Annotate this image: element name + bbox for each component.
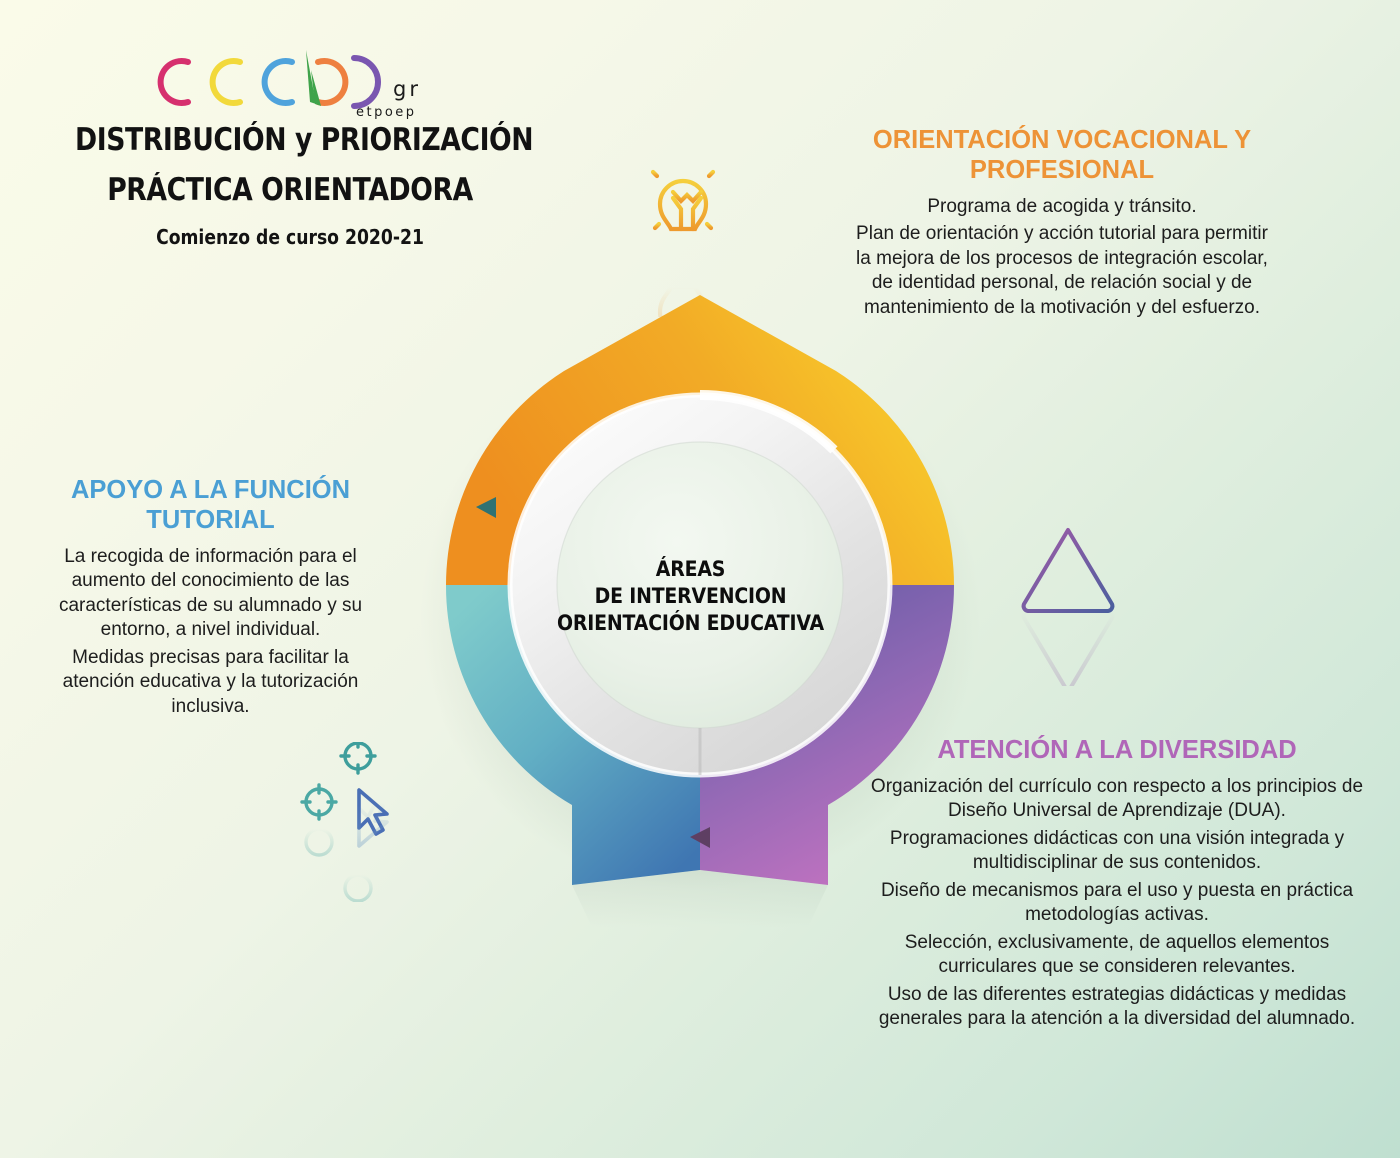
donut-inner-ring — [510, 395, 890, 775]
page-title: DISTRIBUCIÓN y PRIORIZACIÓN PRÁCTICA ORI… — [40, 124, 540, 249]
crosshair-bottom — [302, 785, 336, 819]
panel-paragraph: Medidas precisas para facilitar la atenc… — [38, 646, 383, 720]
panel-title-vocacional: ORIENTACIÓN VOCACIONAL Y PROFESIONAL — [852, 126, 1272, 186]
warning-triangle-icon — [1012, 516, 1124, 686]
panel-paragraph: La recogida de información para el aumen… — [38, 545, 383, 643]
logo-arc-5 — [354, 58, 378, 106]
logo-text-etpoep: etpoep — [356, 105, 417, 120]
logo-arc-2 — [213, 61, 240, 103]
logo-arc-4 — [318, 61, 345, 103]
title-line-1: DISTRIBUCIÓN y PRIORIZACIÓN — [75, 124, 505, 157]
logo-arc-3 — [265, 61, 292, 103]
etpoep-gr-logo: gr etpoep — [140, 44, 440, 122]
panel-paragraph: Programaciones didácticas con una visión… — [862, 827, 1372, 876]
title-subtitle: Comienzo de curso 2020-21 — [75, 225, 505, 249]
panel-paragraph: Diseño de mecanismos para el uso y puest… — [862, 879, 1372, 928]
crosshair-top — [341, 742, 375, 773]
panel-paragraph: Programa de acogida y tránsito. — [852, 195, 1272, 220]
panel-atencion-diversidad: ATENCIÓN A LA DIVERSIDAD Organización de… — [862, 736, 1372, 1035]
panel-paragraph: Organización del currículo con respecto … — [862, 775, 1372, 824]
panel-orientacion-vocacional: ORIENTACIÓN VOCACIONAL Y PROFESIONAL Pro… — [852, 126, 1272, 323]
panel-paragraph: Selección, exclusivamente, de aquellos e… — [862, 931, 1372, 980]
title-line-2: PRÁCTICA ORIENTADORA — [75, 174, 505, 207]
target-crosshair-icon — [288, 742, 403, 902]
infographic-canvas: gr etpoep DISTRIBUCIÓN y PRIORIZACIÓN PR… — [0, 0, 1400, 1158]
logo-text-gr: gr — [393, 77, 421, 101]
panel-title-diversidad: ATENCIÓN A LA DIVERSIDAD — [862, 736, 1372, 766]
warning-reflection — [1024, 611, 1113, 686]
logo-leaf-icon — [306, 50, 321, 106]
panel-paragraph: Plan de orientación y acción tutorial pa… — [852, 222, 1272, 320]
logo-arc-1 — [161, 61, 188, 103]
panel-paragraph: Uso de las diferentes estrategias didáct… — [862, 983, 1372, 1032]
panel-apoyo-funcion-tutorial: APOYO A LA FUNCIÓN TUTORIAL La recogida … — [38, 476, 383, 722]
panel-title-tutorial: APOYO A LA FUNCIÓN TUTORIAL — [38, 476, 383, 536]
